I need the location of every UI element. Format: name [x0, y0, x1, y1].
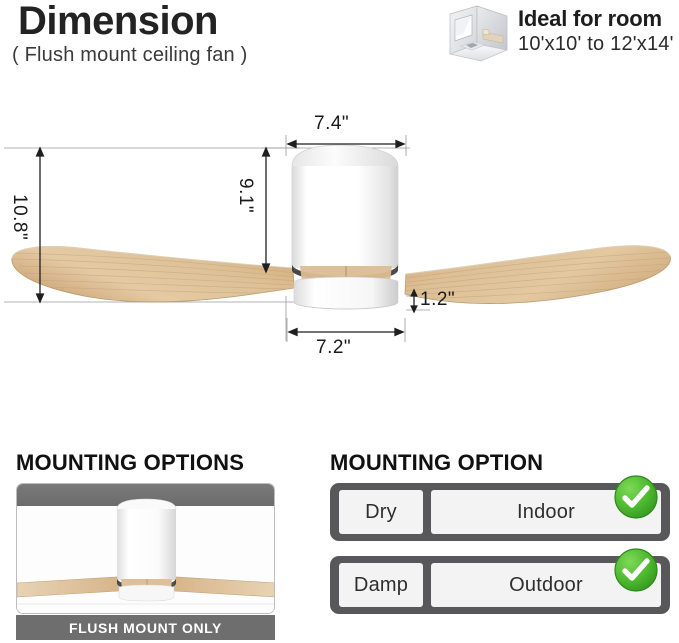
- rating-chip-damp: Damp: [339, 563, 423, 607]
- ideal-room-title: Ideal for room: [518, 6, 662, 32]
- dim-label-base-width: 7.2": [316, 337, 351, 359]
- dim-label-top-width: 7.4": [314, 113, 349, 135]
- flush-mount-scene: [17, 484, 275, 614]
- dim-label-base-height: 1.2": [420, 289, 455, 311]
- check-circle-icon: [613, 474, 659, 520]
- ideal-room-size: 10'x10' to 12'x14': [518, 33, 674, 56]
- page-title: Dimension: [18, 0, 218, 45]
- dim-label-housing-height: 9.1": [234, 178, 256, 213]
- mounting-option-title: MOUNTING OPTION: [330, 450, 543, 476]
- check-circle-icon: [613, 547, 659, 593]
- mounting-options-title: MOUNTING OPTIONS: [16, 450, 244, 476]
- dimension-diagram: 10.8" 9.1" 7.4" 1.2" 7.2": [0, 96, 679, 396]
- flush-mount-illustration-card: [16, 483, 275, 614]
- page-subtitle: ( Flush mount ceiling fan ): [12, 44, 248, 67]
- rating-chip-dry: Dry: [339, 490, 423, 534]
- infographic-page: Dimension ( Flush mount ceiling fan ): [0, 0, 679, 643]
- isometric-room-icon: [447, 4, 511, 62]
- dim-label-overall-height: 10.8": [8, 194, 30, 240]
- flush-mount-caption: FLUSH MOUNT ONLY: [16, 615, 275, 640]
